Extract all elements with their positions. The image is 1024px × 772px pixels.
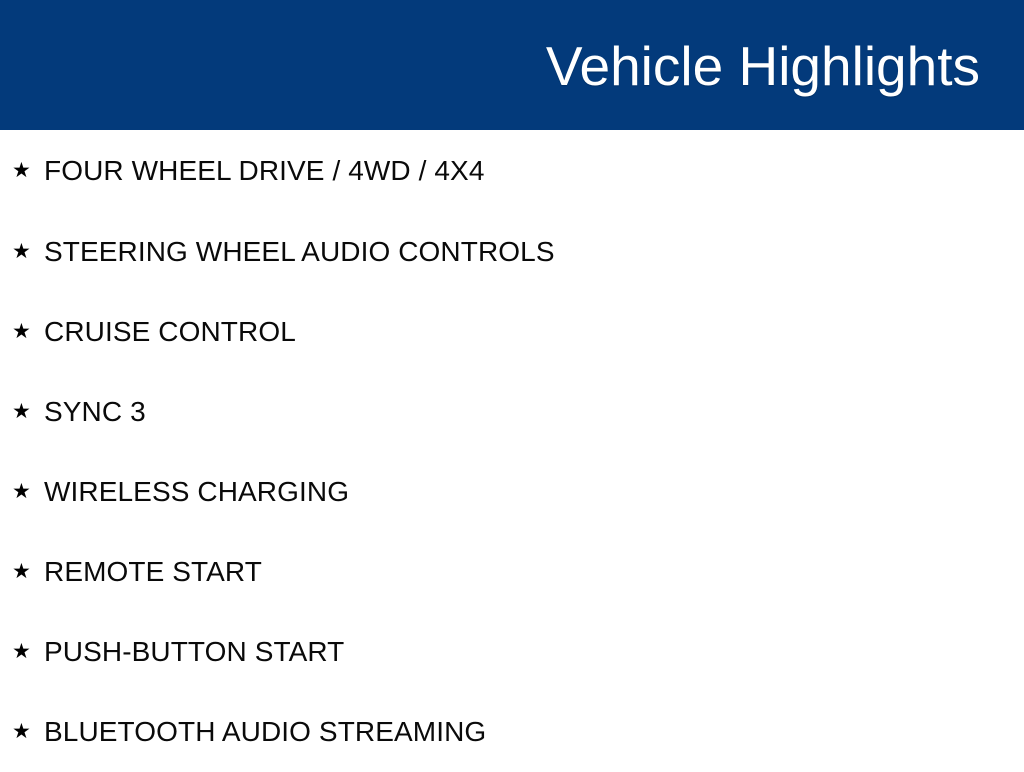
star-icon: ★ [12, 321, 29, 342]
list-item: ★ CRUISE CONTROL [0, 292, 1024, 372]
list-item: ★ PUSH-BUTTON START [0, 612, 1024, 692]
list-item: ★ SYNC 3 [0, 372, 1024, 452]
vehicle-highlights-page: Vehicle Highlights ★ FOUR WHEEL DRIVE / … [0, 0, 1024, 768]
star-icon: ★ [12, 641, 29, 662]
vehicle-highlights-list: ★ FOUR WHEEL DRIVE / 4WD / 4X4 ★ STEERIN… [0, 130, 1024, 772]
star-icon: ★ [12, 401, 29, 422]
highlight-label: WIRELESS CHARGING [44, 475, 349, 509]
highlight-label: FOUR WHEEL DRIVE / 4WD / 4X4 [44, 154, 485, 188]
page-title: Vehicle Highlights [546, 38, 980, 96]
star-icon: ★ [12, 241, 29, 262]
highlight-label: PUSH-BUTTON START [44, 635, 344, 669]
list-item: ★ FOUR WHEEL DRIVE / 4WD / 4X4 [0, 130, 1024, 212]
star-icon: ★ [12, 481, 29, 502]
highlight-label: SYNC 3 [44, 395, 146, 429]
highlight-label: REMOTE START [44, 555, 262, 589]
list-item: ★ WIRELESS CHARGING [0, 452, 1024, 532]
list-item: ★ REMOTE START [0, 532, 1024, 612]
highlight-label: STEERING WHEEL AUDIO CONTROLS [44, 235, 555, 269]
star-icon: ★ [12, 561, 29, 582]
page-header-band: Vehicle Highlights [0, 0, 1024, 130]
star-icon: ★ [12, 160, 29, 181]
highlight-label: CRUISE CONTROL [44, 315, 296, 349]
highlight-label: BLUETOOTH AUDIO STREAMING [44, 715, 486, 749]
list-item: ★ BLUETOOTH AUDIO STREAMING [0, 692, 1024, 772]
star-icon: ★ [12, 721, 29, 742]
list-item: ★ STEERING WHEEL AUDIO CONTROLS [0, 212, 1024, 292]
